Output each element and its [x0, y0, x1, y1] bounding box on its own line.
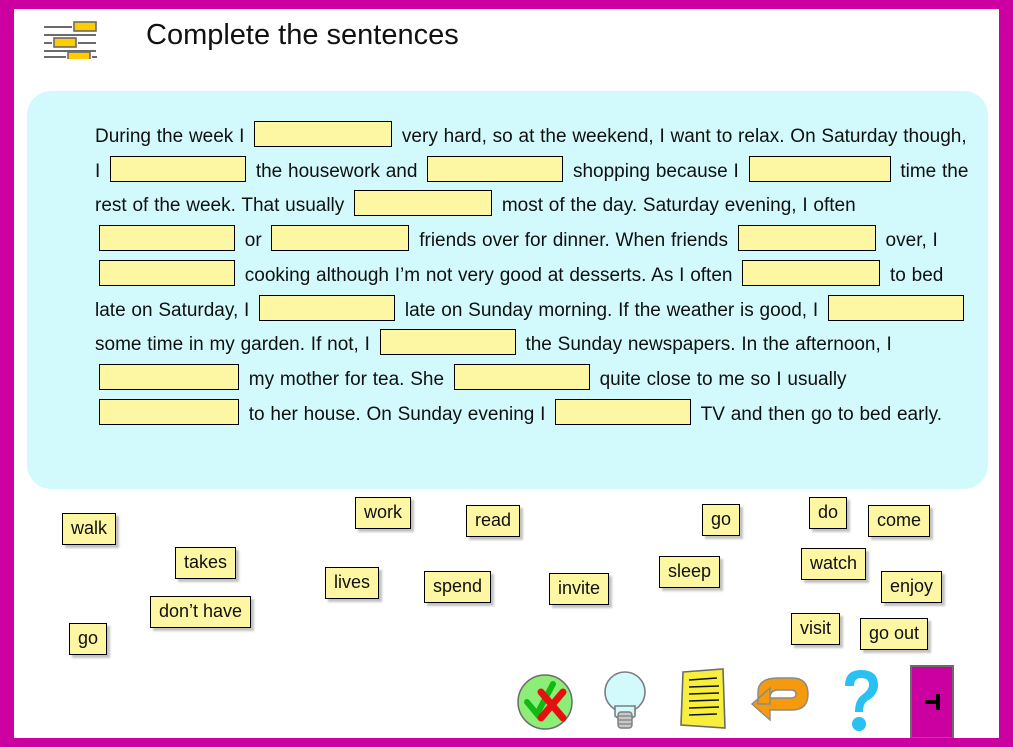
cloze-text-run: friends over for dinner. When friends	[413, 230, 733, 251]
word-tile[interactable]: go	[69, 623, 107, 655]
word-tile[interactable]: come	[868, 505, 930, 537]
cloze-blank-2[interactable]	[110, 156, 246, 182]
cloze-text-run: the Sunday newspapers. In the afternoon,…	[520, 334, 892, 355]
fill-in-blanks-icon	[42, 21, 98, 59]
word-tile[interactable]: do	[809, 497, 847, 529]
cloze-blank-4[interactable]	[749, 156, 891, 182]
word-tile[interactable]: spend	[424, 571, 491, 603]
cloze-blank-10[interactable]	[742, 260, 880, 286]
cloze-blank-17[interactable]	[555, 399, 691, 425]
cloze-blank-8[interactable]	[738, 225, 876, 251]
word-tile[interactable]: work	[355, 497, 411, 529]
exit-button[interactable]	[907, 664, 971, 736]
cloze-blank-9[interactable]	[99, 260, 235, 286]
cloze-blank-13[interactable]	[380, 329, 516, 355]
header-bar: Complete the sentences	[14, 9, 999, 71]
cloze-blank-6[interactable]	[99, 225, 235, 251]
cloze-blank-12[interactable]	[828, 295, 964, 321]
application-window: Complete the sentences During the week I…	[0, 0, 1013, 747]
notes-button[interactable]	[671, 664, 735, 736]
cloze-text-run: TV and then go to bed early.	[695, 404, 942, 425]
word-tile[interactable]: visit	[791, 613, 840, 645]
cloze-blank-16[interactable]	[99, 399, 239, 425]
cloze-text-run: or	[239, 230, 267, 251]
word-tile[interactable]: go out	[860, 618, 928, 650]
word-tile[interactable]: lives	[325, 567, 379, 599]
word-bank: walkworkreadgodocometakeslivesspendinvit…	[14, 491, 999, 661]
word-tile[interactable]: enjoy	[881, 571, 942, 603]
cloze-text-run: late on Sunday morning. If the weather i…	[399, 300, 824, 321]
word-tile[interactable]: don’t have	[150, 596, 251, 628]
cloze-text-run: quite close to me so I usually	[594, 369, 847, 390]
page-title: Complete the sentences	[146, 19, 459, 52]
cloze-text-run: During the week I	[95, 126, 250, 147]
word-tile[interactable]: sleep	[659, 556, 720, 588]
cloze-blank-5[interactable]	[354, 190, 492, 216]
cloze-text-run: the housework and	[250, 161, 423, 182]
cloze-text-run: to her house. On Sunday evening I	[243, 404, 551, 425]
check-answers-button[interactable]	[513, 664, 577, 736]
word-tile[interactable]: read	[466, 505, 520, 537]
cloze-blank-1[interactable]	[254, 121, 392, 147]
word-tile[interactable]: takes	[175, 547, 236, 579]
hint-button[interactable]	[593, 664, 657, 736]
word-tile[interactable]: invite	[549, 573, 609, 605]
word-tile[interactable]: go	[702, 504, 740, 536]
cloze-blank-7[interactable]	[271, 225, 409, 251]
cloze-blank-3[interactable]	[427, 156, 563, 182]
cloze-text-run: some time in my garden. If not, I	[95, 334, 376, 355]
toolbar	[14, 664, 999, 739]
cloze-text-run: cooking although I’m not very good at de…	[239, 265, 738, 286]
cloze-blank-14[interactable]	[99, 364, 239, 390]
cloze-blank-15[interactable]	[454, 364, 590, 390]
word-tile[interactable]: walk	[62, 513, 116, 545]
cloze-text-run: over, I	[880, 230, 938, 251]
cloze-exercise-panel: During the week I very hard, so at the w…	[27, 91, 988, 489]
cloze-blank-11[interactable]	[259, 295, 395, 321]
undo-button[interactable]	[744, 664, 808, 736]
cloze-text-run: my mother for tea. She	[243, 369, 450, 390]
cloze-text-run: shopping because I	[567, 161, 744, 182]
help-button[interactable]	[829, 664, 893, 736]
word-tile[interactable]: watch	[801, 548, 866, 580]
cloze-paragraph: During the week I very hard, so at the w…	[45, 105, 970, 432]
cloze-text-run: most of the day. Saturday evening, I oft…	[496, 195, 856, 216]
